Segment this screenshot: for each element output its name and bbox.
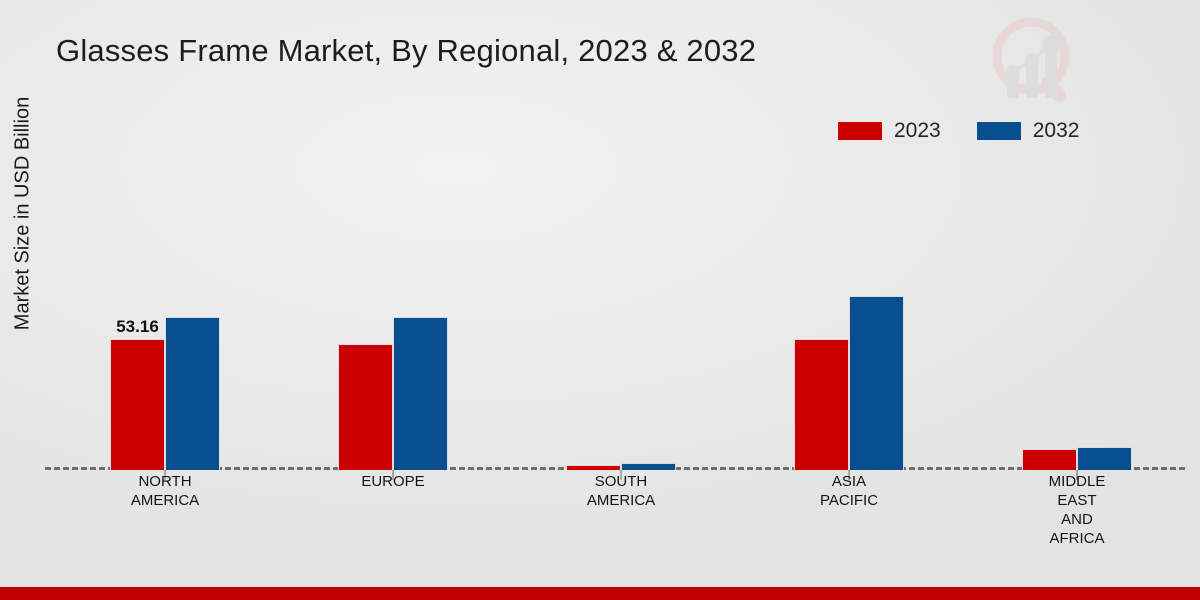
plot-area: 53.16 NORTH AMERICA EUROPE SOUTH AMERICA… <box>45 150 1185 470</box>
x-label-north-america: NORTH AMERICA <box>131 472 199 510</box>
bar-2023-europe[interactable] <box>338 344 393 470</box>
legend-swatch-2032 <box>977 122 1021 140</box>
market-research-logo-watermark-icon <box>985 12 1085 112</box>
bar-2023-middle-east-and-africa[interactable] <box>1022 449 1077 470</box>
bar-group-asia-pacific: ASIA PACIFIC <box>789 150 909 470</box>
x-label-asia-pacific: ASIA PACIFIC <box>820 472 878 510</box>
bar-group-middle-east-and-africa: MIDDLE EAST AND AFRICA <box>1017 150 1137 470</box>
legend-item-2023[interactable]: 2023 <box>838 120 941 141</box>
legend-label-2023: 2023 <box>894 120 941 141</box>
x-label-europe: EUROPE <box>361 472 424 491</box>
bar-group-europe: EUROPE <box>333 150 453 470</box>
bar-2032-europe[interactable] <box>393 317 448 470</box>
bar-2032-north-america[interactable] <box>165 317 220 470</box>
bar-2023-asia-pacific[interactable] <box>794 339 849 470</box>
x-label-south-america: SOUTH AMERICA <box>587 472 655 510</box>
bar-2032-asia-pacific[interactable] <box>849 296 904 470</box>
bar-2032-middle-east-and-africa[interactable] <box>1077 447 1132 470</box>
bar-group-north-america: 53.16 NORTH AMERICA <box>105 150 225 470</box>
x-label-middle-east-and-africa: MIDDLE EAST AND AFRICA <box>1049 472 1106 548</box>
bar-2032-south-america[interactable] <box>621 463 676 470</box>
chart-canvas: Glasses Frame Market, By Regional, 2023 … <box>0 0 1200 600</box>
bar-2023-south-america[interactable] <box>566 465 621 470</box>
chart-legend: 2023 2032 <box>838 120 1079 141</box>
bar-value-label-north-america-2023: 53.16 <box>116 317 159 337</box>
legend-swatch-2023 <box>838 122 882 140</box>
footer-accent-bar <box>0 587 1200 600</box>
legend-label-2032: 2032 <box>1033 120 1080 141</box>
bar-group-south-america: SOUTH AMERICA <box>561 150 681 470</box>
bar-2023-north-america[interactable]: 53.16 <box>110 339 165 470</box>
chart-title: Glasses Frame Market, By Regional, 2023 … <box>56 33 756 69</box>
y-axis-title: Market Size in USD Billion <box>12 49 35 379</box>
legend-item-2032[interactable]: 2032 <box>977 120 1080 141</box>
